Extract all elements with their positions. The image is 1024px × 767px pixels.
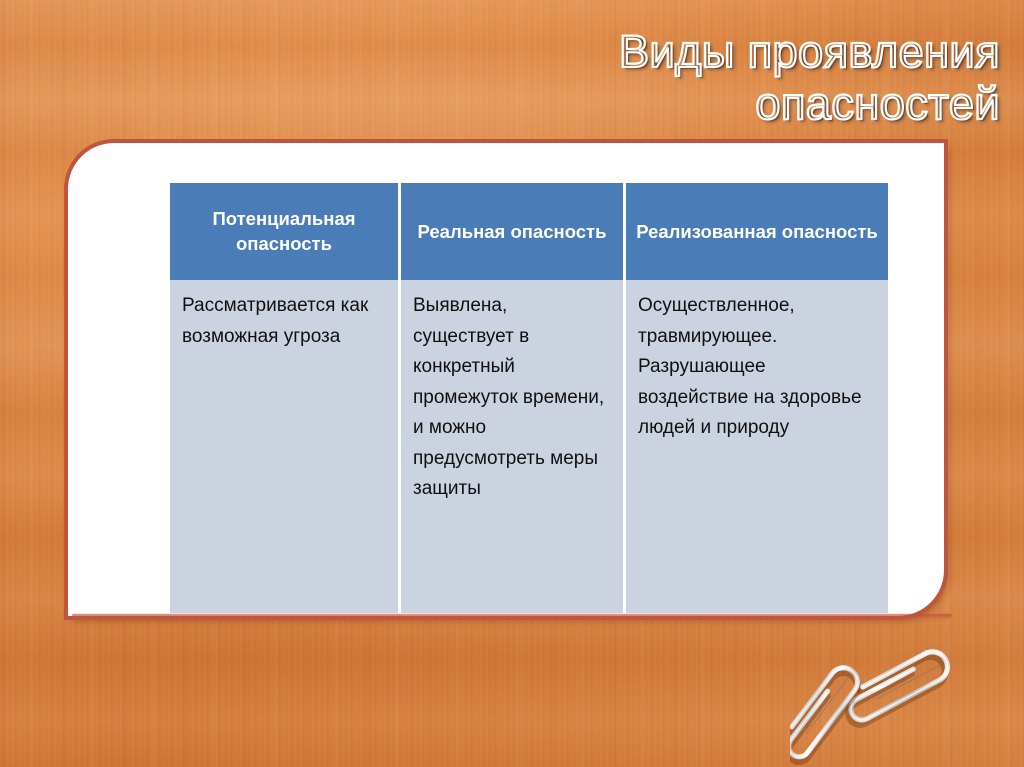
table-header-row: Потенциальная опасность Реальная опаснос…: [170, 183, 888, 280]
slide-canvas: Виды проявления опасностей Потенциальная…: [0, 0, 1024, 767]
table-cell-potential: Рассматривается как возможная угроза: [170, 280, 398, 613]
table-cell-realized: Осуществленное, травмирующее. Разрушающе…: [626, 280, 888, 613]
hazard-types-table: Потенциальная опасность Реальная опаснос…: [167, 183, 891, 613]
table-header-realized: Реализованная опасность: [626, 183, 888, 280]
table-header-real: Реальная опасность: [401, 183, 623, 280]
slide-title: Виды проявления опасностей: [64, 26, 1000, 130]
table-cell-real: Выявлена, существует в конкретный промеж…: [401, 280, 623, 613]
content-card-shadow: [72, 614, 952, 621]
table-row: Рассматривается как возможная угроза Выя…: [170, 280, 888, 613]
table-header-potential: Потенциальная опасность: [170, 183, 398, 280]
